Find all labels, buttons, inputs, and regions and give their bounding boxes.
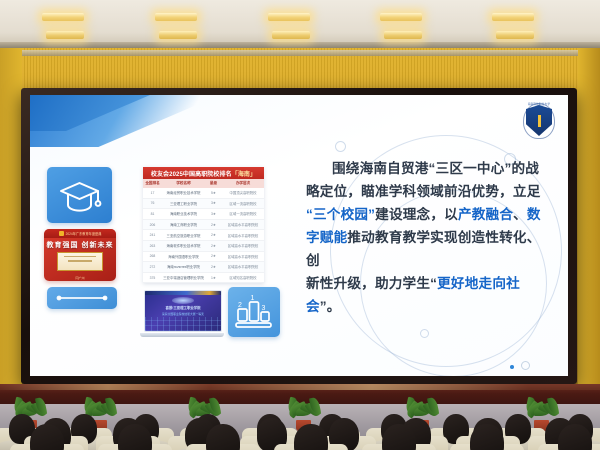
ceiling-light-5-1 (492, 13, 534, 21)
table-cell: 206 (143, 223, 162, 227)
table-cell: 2★ (205, 244, 222, 248)
ranking-table: 校友会2025中国高职院校排名「海南」 全国排名学校名称星级办学层次 17海南经… (143, 167, 264, 283)
table-cell: 2★ (205, 265, 222, 269)
table-cell: 海南外国语职业学院 (162, 254, 205, 259)
laptop-screen-topbar (145, 291, 221, 295)
highlight-digital-2: 字赋能 (306, 230, 347, 245)
text-line-3d: 、 (513, 207, 527, 222)
laptop-screen: 喜报!三亚理工职业学院 荣获全国职业院校技能大赛一等奖 (144, 290, 222, 332)
svg-text:1: 1 (251, 295, 255, 302)
stage-reflection (0, 384, 600, 390)
table-row: 263海南软件职业技术学院2★区域高水平高职院校 (143, 241, 264, 252)
text-line-5a: 新性升级，助力学生“ (306, 276, 437, 291)
decor-circle-1 (335, 141, 346, 152)
text-line-3b: 建设理念，以 (375, 207, 458, 222)
table-row: 272海南политех职业学院2★区域高水平高职院校 (143, 262, 264, 273)
cert-line-2 (68, 260, 92, 261)
table-cell: 三亚中瑞酒店管理职业学院 (162, 275, 205, 280)
ranking-table-body: 17海南经贸职业技术学院5★中国顶尖高职院校76三亚理工职业学院3★区域一流高职… (143, 188, 264, 283)
table-cell: 241 (143, 233, 162, 237)
tech-subline: 荣获全国职业院校技能大赛一等奖 (145, 312, 221, 316)
ceiling (0, 0, 600, 46)
text-line-5c: ”。 (320, 299, 341, 314)
text-line-2: 略定位，瞄准学科领域前沿优势，立足 (306, 180, 554, 203)
award-calligraphy: 教育强国 创新未来 (44, 240, 116, 250)
laptop-screen-grid (145, 317, 221, 331)
award-badge-icon (59, 231, 64, 236)
table-cell: 区域高水平高职院校 (222, 233, 264, 238)
table-cell: 5★ (205, 191, 222, 195)
ceiling-light-4-2 (384, 31, 422, 39)
presentation-slide: 海南科技职业大学 校友会2025中国高职院校排名「海南」 全国排名学校名称星级办… (30, 95, 568, 376)
highlight-three-campuses: “三个校园” (306, 207, 375, 222)
page-indicator-inactive[interactable] (521, 361, 530, 370)
ceiling-light-3-2 (272, 31, 310, 39)
page-indicator-active[interactable] (510, 365, 514, 369)
right-wall (578, 48, 600, 404)
table-cell: 1★ (205, 276, 222, 280)
text-line-1: 围绕海南自贸港“三区一中心”的战 (306, 157, 554, 180)
text-line-4: 字赋能推动教育教学实现创造性转化、创 (306, 226, 554, 272)
table-cell: 海南经贸职业技术学院 (162, 190, 205, 195)
table-cell: 区域一流高职院校 (222, 201, 264, 206)
table-cell: 272 (143, 265, 162, 269)
table-cell: 中国顶尖高职院校 (222, 190, 264, 195)
table-cell: 76 (143, 201, 162, 205)
table-cell: 区域一流高职院校 (222, 211, 264, 216)
table-cell: 3★ (205, 201, 222, 205)
slide-body-text: 围绕海南自贸港“三区一中心”的战 略定位，瞄准学科领域前沿优势，立足 “三个校园… (306, 157, 554, 318)
table-cell: 区域知名高职院校 (222, 275, 264, 280)
progress-card[interactable] (47, 287, 117, 309)
table-header-4: 办学层次 (222, 181, 264, 186)
table-cell: 区域高水平高职院校 (222, 222, 264, 227)
table-cell: 375 (143, 276, 162, 280)
table-row: 76三亚理工职业学院3★区域一流高职院校 (143, 199, 264, 210)
ceiling-light-2-1 (155, 13, 197, 21)
laptop-screen-glow (172, 297, 194, 304)
ceiling-light-1-2 (46, 31, 84, 39)
table-row: 17海南经贸职业技术学院5★中国顶尖高职院校 (143, 188, 264, 199)
award-card-banner: 2024年广东教育年度盛典 (44, 229, 116, 238)
table-header-3: 星级 (205, 181, 222, 186)
tech-headline: 喜报!三亚理工职业学院 (145, 305, 221, 310)
ranking-table-header-row: 全国排名学校名称星级办学层次 (143, 179, 264, 188)
progress-bar-icon (47, 287, 117, 309)
text-line-5: 新性升级，助力学生“更好地走向社会”。 (306, 272, 554, 318)
school-crest: 海南科技职业大学 (524, 103, 554, 139)
table-cell: 海南политех职业学院 (162, 264, 205, 269)
table-cell: 区域高水平高职院校 (222, 254, 264, 259)
ceiling-light-4-1 (380, 13, 422, 21)
decor-circle-3 (420, 329, 429, 338)
left-wall (0, 48, 22, 404)
table-cell: 268 (143, 254, 162, 258)
svg-text:3: 3 (262, 305, 266, 312)
ceiling-light-2-2 (159, 31, 197, 39)
table-row: 206海南工商职业学院2★区域高水平高职院校 (143, 220, 264, 231)
table-cell: 三亚航空旅游职业学院 (162, 233, 205, 238)
conference-hall-photo: 海南科技职业大学 校友会2025中国高职院校排名「海南」 全国排名学校名称星级办… (0, 0, 600, 450)
table-cell: 区域高水平高职院校 (222, 264, 264, 269)
svg-text:2: 2 (238, 302, 242, 309)
table-header-2: 学校名称 (162, 181, 205, 186)
table-row: 81海南职业技术学院3★区域一流高职院校 (143, 209, 264, 220)
highlight-digital-1: 数 (527, 207, 541, 222)
table-row: 268海南外国语职业学院2★区域高水平高职院校 (143, 252, 264, 263)
ranking-title-prefix: 校友会2025中国高职院校排名 (151, 172, 232, 178)
award-card-footer: 同广州 (44, 276, 116, 280)
table-row: 375三亚中瑞酒店管理职业学院1★区域知名高职院校 (143, 273, 264, 284)
ranking-title-region: 「海南」 (232, 172, 256, 178)
podium-ranking-icon: 2 1 3 (228, 287, 280, 337)
graduation-card[interactable] (47, 167, 112, 223)
table-cell: 海南软件职业技术学院 (162, 243, 205, 248)
led-screen: 海南科技职业大学 校友会2025中国高职院校排名「海南」 全国排名学校名称星级办… (30, 95, 568, 376)
table-cell: 2★ (205, 223, 222, 227)
ceiling-light-3-1 (268, 13, 310, 21)
ceiling-light-1-1 (42, 13, 84, 21)
table-cell: 2★ (205, 254, 222, 258)
wall-molding (18, 50, 582, 56)
table-cell: 三亚理工职业学院 (162, 201, 205, 206)
table-cell: 区域高水平高职院校 (222, 243, 264, 248)
table-cell: 3★ (205, 212, 222, 216)
table-cell: 81 (143, 212, 162, 216)
award-banner-text: 2024年广东教育年度盛典 (66, 231, 102, 236)
laptop-base (140, 333, 224, 337)
tech-news-card[interactable]: 喜报!三亚理工职业学院 荣获全国职业院校技能大赛一等奖 (144, 290, 220, 337)
table-cell: 17 (143, 191, 162, 195)
graduation-cap-icon (47, 167, 112, 223)
award-card[interactable]: 2024年广东教育年度盛典 教育强国 创新未来 同广州 (44, 229, 116, 281)
table-cell: 海南工商职业学院 (162, 222, 205, 227)
ceiling-light-5-2 (496, 31, 534, 39)
table-header-1: 全国排名 (143, 181, 162, 186)
ranking-podium-card[interactable]: 2 1 3 (228, 287, 280, 337)
ranking-table-title: 校友会2025中国高职院校排名「海南」 (143, 167, 264, 179)
table-row: 241三亚航空旅游职业学院2★区域高水平高职院校 (143, 230, 264, 241)
text-line-3: “三个校园”建设理念，以产教融合、数 (306, 203, 554, 226)
table-cell: 海南职业技术学院 (162, 211, 205, 216)
table-cell: 2★ (205, 233, 222, 237)
table-cell: 263 (143, 244, 162, 248)
cert-line-1 (64, 256, 96, 257)
certificate-image (57, 252, 103, 271)
highlight-industry-education: 产教融合 (458, 207, 513, 222)
